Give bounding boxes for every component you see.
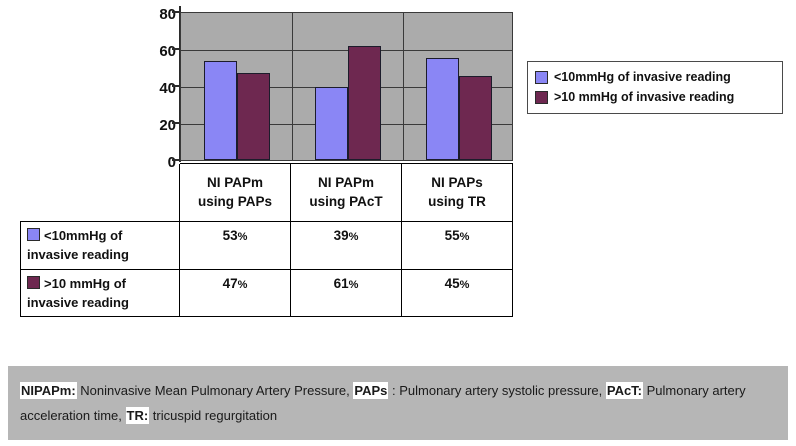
abbr-tr: TR: <box>126 407 150 424</box>
legend-item-series-b: >10 mmHg of invasive reading <box>535 87 775 107</box>
plot-area <box>180 12 513 161</box>
legend-swatch-icon-series-a <box>535 71 548 84</box>
category-label-3-line1: NI PAPs <box>431 174 483 192</box>
y-tick-mark-20 <box>172 122 180 124</box>
table-row: >10 mmHg of invasive reading 47% 61% 45% <box>21 269 513 317</box>
table-cell-series-a-cat-1: 53% <box>180 222 291 270</box>
bar-series-a-cat-2 <box>315 87 348 160</box>
bar-series-b-cat-2 <box>348 46 381 160</box>
y-tick-label-60: 60 <box>142 44 176 59</box>
legend-swatch-icon-series-b <box>535 91 548 104</box>
unit-series-a-cat-1: % <box>238 231 248 243</box>
y-tick-label-0: 0 <box>142 155 176 170</box>
y-axis: 80 60 40 20 0 <box>140 0 176 170</box>
bar-series-b-cat-3 <box>459 76 492 160</box>
data-table: <10mmHg of invasive reading 53% 39% 55% … <box>20 221 513 317</box>
table-row-label-series-a: <10mmHg of invasive reading <box>21 222 180 270</box>
category-label-1-line2: using PAPs <box>198 193 272 211</box>
bar-series-b-cat-1 <box>237 73 270 161</box>
table-row-label-series-a-line2: invasive reading <box>27 246 173 265</box>
category-label-1-line1: NI PAPm <box>207 174 263 192</box>
chart-legend: <10mmHg of invasive reading >10 mmHg of … <box>527 61 783 114</box>
abbreviation-legend-text: NIPAPm: Noninvasive Mean Pulmonary Arter… <box>20 378 776 429</box>
value-series-a-cat-2: 39 <box>334 228 349 243</box>
footnote-expansion-1: Noninvasive Mean Pulmonary Artery Pressu… <box>77 383 354 398</box>
bar-group-3 <box>403 13 514 160</box>
y-tick-label-40: 40 <box>142 81 176 96</box>
y-tick-label-20: 20 <box>142 118 176 133</box>
y-tick-mark-0 <box>172 159 180 161</box>
category-label-3: NI PAPs using TR <box>401 164 513 221</box>
footnote-expansion-4: tricuspid regurgitation <box>149 408 277 423</box>
unit-series-b-cat-3: % <box>460 279 470 291</box>
legend-item-series-a: <10mmHg of invasive reading <box>535 67 775 87</box>
table-cell-series-a-cat-3: 55% <box>402 222 513 270</box>
x-axis-category-labels: NI PAPm using PAPs NI PAPm using PAcT NI… <box>180 163 513 221</box>
category-label-3-line2: using TR <box>428 193 486 211</box>
table-row-label-series-a-line1: <10mmHg of <box>44 228 122 243</box>
table-row-label-series-b: >10 mmHg of invasive reading <box>21 269 180 317</box>
table-row: <10mmHg of invasive reading 53% 39% 55% <box>21 222 513 270</box>
abbr-nipapm: NIPAPm: <box>20 382 77 399</box>
value-series-b-cat-1: 47 <box>223 276 238 291</box>
category-label-2-line2: using PAcT <box>309 193 382 211</box>
bar-series-a-cat-1 <box>204 61 237 160</box>
bar-series-a-cat-3 <box>426 58 459 160</box>
y-tick-mark-40 <box>172 85 180 87</box>
table-swatch-icon-series-a <box>27 228 40 241</box>
value-series-a-cat-1: 53 <box>223 228 238 243</box>
footnote-expansion-2: : Pulmonary artery systolic pressure, <box>388 383 605 398</box>
table-cell-series-a-cat-2: 39% <box>291 222 402 270</box>
legend-label-series-a: <10mmHg of invasive reading <box>554 67 731 87</box>
unit-series-a-cat-3: % <box>460 231 470 243</box>
y-tick-mark-80 <box>172 11 180 13</box>
category-label-1: NI PAPm using PAPs <box>179 164 291 221</box>
value-series-b-cat-3: 45 <box>445 276 460 291</box>
bar-group-1 <box>181 13 292 160</box>
table-row-label-series-b-line2: invasive reading <box>27 294 173 313</box>
table-swatch-icon-series-b <box>27 276 40 289</box>
table-cell-series-b-cat-2: 61% <box>291 269 402 317</box>
unit-series-b-cat-1: % <box>238 279 248 291</box>
table-cell-series-b-cat-3: 45% <box>402 269 513 317</box>
abbr-pact: PAcT: <box>606 382 643 399</box>
y-tick-mark-60 <box>172 48 180 50</box>
unit-series-b-cat-2: % <box>349 279 359 291</box>
unit-series-a-cat-2: % <box>349 231 359 243</box>
abbr-paps: PAPs <box>353 382 388 399</box>
bar-group-2 <box>292 13 403 160</box>
category-label-2-line1: NI PAPm <box>318 174 374 192</box>
value-series-b-cat-2: 61 <box>334 276 349 291</box>
value-series-a-cat-3: 55 <box>445 228 460 243</box>
table-cell-series-b-cat-1: 47% <box>180 269 291 317</box>
y-tick-label-80: 80 <box>142 7 176 22</box>
category-label-2: NI PAPm using PAcT <box>290 164 402 221</box>
table-row-label-series-b-line1: >10 mmHg of <box>44 276 126 291</box>
footnote-band: NIPAPm: Noninvasive Mean Pulmonary Arter… <box>8 366 788 440</box>
legend-label-series-b: >10 mmHg of invasive reading <box>554 87 734 107</box>
